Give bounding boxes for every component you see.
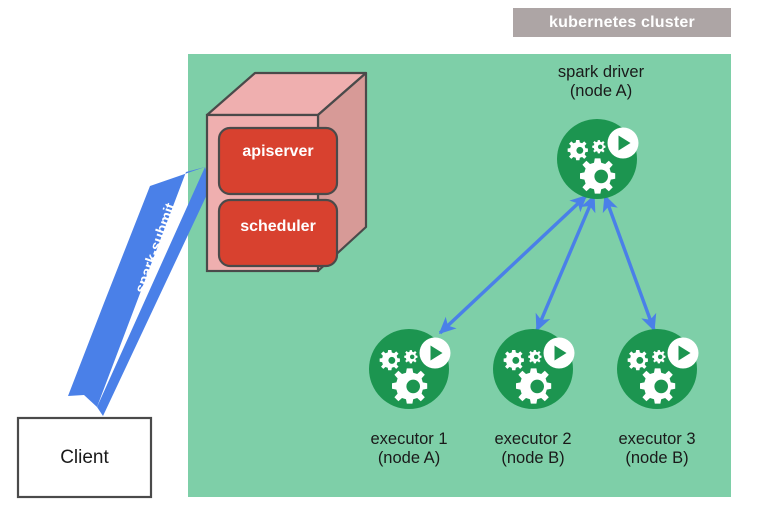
executor-1-caption: executor 1 (node A) — [337, 430, 481, 469]
kubernetes-cluster-badge: kubernetes cluster — [513, 8, 731, 37]
diagram-canvas: kubernetes cluster apiserver scheduler s… — [0, 0, 761, 516]
client-label: Client — [18, 418, 151, 497]
spark-driver-node-id: (node A) — [516, 82, 686, 101]
executor-3-caption: executor 3 (node B) — [585, 430, 729, 469]
executor-2-name: executor 2 — [461, 430, 605, 449]
executor-1-node-id: (node A) — [337, 449, 481, 468]
scheduler-label: scheduler — [219, 207, 337, 247]
executor-3-name: executor 3 — [585, 430, 729, 449]
spark-driver-name: spark driver — [516, 63, 686, 82]
executor-2-caption: executor 2 (node B) — [461, 430, 605, 469]
executor-2-node-id: (node B) — [461, 449, 605, 468]
executor-3-node-id: (node B) — [585, 449, 729, 468]
spark-driver-caption: spark driver (node A) — [516, 63, 686, 102]
apiserver-label: apiserver — [219, 132, 337, 172]
executor-1-name: executor 1 — [337, 430, 481, 449]
